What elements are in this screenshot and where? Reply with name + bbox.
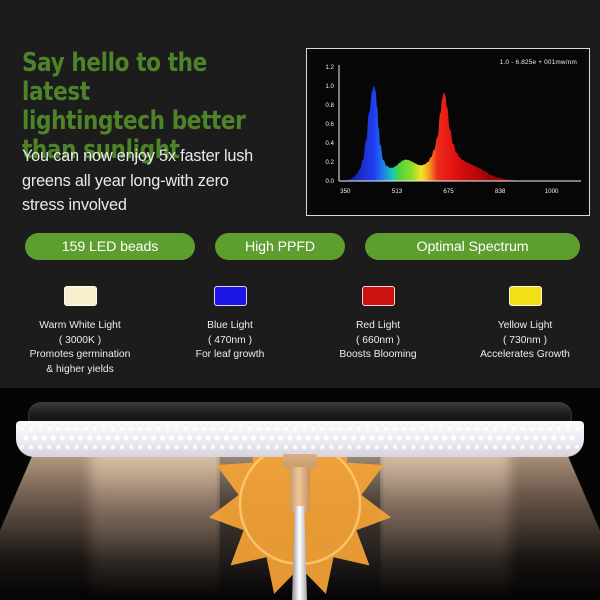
led-bead xyxy=(165,427,169,431)
led-bead xyxy=(202,445,206,449)
led-bead xyxy=(296,435,301,440)
subline-line-2: greens all year long-with zero xyxy=(22,169,302,194)
spec0-line-3: Promotes germination xyxy=(5,348,155,363)
led-bead xyxy=(129,445,133,449)
led-bead xyxy=(29,427,33,431)
led-bead xyxy=(306,435,311,440)
led-bead xyxy=(111,445,115,449)
led-bead xyxy=(338,445,342,449)
led-bead xyxy=(165,445,169,449)
led-bead xyxy=(511,445,515,449)
spec1-line-3: For leaf growth xyxy=(155,348,305,363)
led-bead xyxy=(311,445,315,449)
led-bead xyxy=(347,427,351,431)
hero-subtitle: You can now enjoy 5x faster lush greens … xyxy=(22,144,302,218)
led-bead xyxy=(320,445,324,449)
led-bead xyxy=(20,445,24,449)
led-bead xyxy=(529,445,533,449)
product-photo xyxy=(0,388,600,600)
y-tick-label: 0.4 xyxy=(325,140,334,147)
led-bead xyxy=(357,445,361,449)
led-bead xyxy=(23,435,28,440)
led-bead xyxy=(38,445,42,449)
led-bead xyxy=(38,427,42,431)
spec1-line-1: Blue Light xyxy=(155,319,305,334)
spec3-line-2: ( 730nm ) xyxy=(450,334,600,349)
headline-line-1: Say hello to the latest xyxy=(22,49,281,107)
led-bead xyxy=(260,435,265,440)
led-bead xyxy=(560,435,565,440)
led-bead xyxy=(169,435,174,440)
led-bead xyxy=(114,435,119,440)
spec1-line-2: ( 470nm ) xyxy=(155,334,305,349)
y-tick-label: 0.8 xyxy=(325,102,334,109)
led-bead xyxy=(315,435,320,440)
led-bead xyxy=(302,445,306,449)
led-bead xyxy=(202,427,206,431)
led-bead xyxy=(475,445,479,449)
led-bead xyxy=(384,445,388,449)
led-bead xyxy=(266,427,270,431)
badge-led-beads[interactable]: 159 LED beads xyxy=(25,233,195,260)
led-bead xyxy=(47,427,51,431)
spectrum-chart: 1.0 - 6.825e + 001mw/nm 0.00.20.40.60.81… xyxy=(306,48,590,216)
led-bead xyxy=(384,427,388,431)
spec-red: Red Light ( 660nm ) Boosts Blooming xyxy=(303,278,453,363)
spec-warm-white-text: Warm White Light ( 3000K ) Promotes germ… xyxy=(5,319,155,377)
warm-white-swatch xyxy=(64,286,97,306)
led-bead xyxy=(493,427,497,431)
led-bead xyxy=(411,445,415,449)
badge-optimal-spectrum[interactable]: Optimal Spectrum xyxy=(365,233,580,260)
led-bead xyxy=(497,435,502,440)
led-bead xyxy=(87,435,92,440)
led-bead xyxy=(69,435,74,440)
led-bead xyxy=(347,445,351,449)
led-bead xyxy=(539,427,543,431)
led-bead xyxy=(84,445,88,449)
led-bead xyxy=(196,435,201,440)
spec-yellow: Yellow Light ( 730nm ) Accelerates Growt… xyxy=(450,278,600,363)
led-bead xyxy=(29,445,33,449)
led-spec-list: Warm White Light ( 3000K ) Promotes germ… xyxy=(0,278,600,388)
led-bead xyxy=(475,427,479,431)
led-bead xyxy=(442,435,447,440)
led-bead xyxy=(175,445,179,449)
led-bead xyxy=(247,445,251,449)
led-bead xyxy=(366,445,370,449)
led-bead xyxy=(333,435,338,440)
led-bead xyxy=(302,427,306,431)
led-bead xyxy=(311,427,315,431)
led-bead xyxy=(466,445,470,449)
led-bead xyxy=(233,435,238,440)
led-bead xyxy=(397,435,402,440)
led-bead xyxy=(111,427,115,431)
led-panel xyxy=(16,421,584,457)
spec0-line-4: & higher yields xyxy=(5,363,155,378)
led-bead xyxy=(269,435,274,440)
led-bead xyxy=(466,427,470,431)
spec2-line-1: Red Light xyxy=(303,319,453,334)
led-bead xyxy=(420,445,424,449)
spec-red-text: Red Light ( 660nm ) Boosts Blooming xyxy=(303,319,453,363)
led-bead xyxy=(256,445,260,449)
spec0-line-2: ( 3000K ) xyxy=(5,334,155,349)
led-bead xyxy=(56,427,60,431)
led-bead xyxy=(205,435,210,440)
led-bead xyxy=(393,427,397,431)
spec2-line-3: Boosts Blooming xyxy=(303,348,453,363)
led-bead xyxy=(533,435,538,440)
led-bead xyxy=(184,427,188,431)
led-bead xyxy=(393,445,397,449)
led-bead xyxy=(275,427,279,431)
led-bead xyxy=(193,427,197,431)
led-bead xyxy=(402,445,406,449)
led-bead xyxy=(502,445,506,449)
led-bead xyxy=(366,427,370,431)
led-bead xyxy=(220,427,224,431)
headline-line-2: lightingtech better xyxy=(22,107,281,136)
led-bead xyxy=(529,427,533,431)
led-bead xyxy=(93,427,97,431)
led-bead xyxy=(220,445,224,449)
led-bead xyxy=(448,427,452,431)
led-bead xyxy=(375,445,379,449)
led-bead xyxy=(51,435,56,440)
led-bead xyxy=(151,435,156,440)
led-bead xyxy=(242,435,247,440)
led-bead xyxy=(457,427,461,431)
led-bead xyxy=(215,435,220,440)
led-bead xyxy=(551,435,556,440)
led-bead xyxy=(548,445,552,449)
y-tick-label: 1.2 xyxy=(325,64,334,71)
lamp-mount xyxy=(283,454,317,468)
led-bead xyxy=(438,445,442,449)
feature-badges: 159 LED beads High PPFD Optimal Spectrum xyxy=(0,233,600,263)
led-bead xyxy=(138,427,142,431)
spec3-line-3: Accelerates Growth xyxy=(450,348,600,363)
x-tick-label: 513 xyxy=(392,188,403,195)
promo-graphic: Say hello to the latest lightingtech bet… xyxy=(0,0,600,600)
spec2-line-2: ( 660nm ) xyxy=(303,334,453,349)
led-bead xyxy=(266,445,270,449)
led-bead xyxy=(284,427,288,431)
led-bead xyxy=(411,427,415,431)
led-bead xyxy=(324,435,329,440)
led-bead xyxy=(369,435,374,440)
led-bead xyxy=(33,435,38,440)
subline-line-3: stress involved xyxy=(22,193,302,218)
led-bead xyxy=(47,445,51,449)
led-bead xyxy=(502,427,506,431)
y-tick-label: 0.6 xyxy=(325,121,334,128)
led-bead xyxy=(415,435,420,440)
x-tick-label: 675 xyxy=(443,188,454,195)
led-bead xyxy=(357,427,361,431)
y-tick-label: 1.0 xyxy=(325,83,334,90)
spectrum-curve xyxy=(341,86,577,181)
led-bead xyxy=(460,435,465,440)
spec0-line-1: Warm White Light xyxy=(5,319,155,334)
blue-swatch xyxy=(214,286,247,306)
hero-section: Say hello to the latest lightingtech bet… xyxy=(0,0,600,225)
lamp-neck xyxy=(290,467,310,511)
led-bead xyxy=(378,435,383,440)
x-tick-label: 350 xyxy=(340,188,351,195)
led-bead xyxy=(433,435,438,440)
led-bead xyxy=(548,427,552,431)
red-swatch xyxy=(362,286,395,306)
led-bead xyxy=(229,445,233,449)
led-bead xyxy=(360,435,365,440)
y-tick-label: 0.2 xyxy=(325,159,334,166)
led-bead xyxy=(120,427,124,431)
led-bead xyxy=(387,435,392,440)
yellow-swatch xyxy=(509,286,542,306)
x-tick-label: 838 xyxy=(495,188,506,195)
led-bead xyxy=(493,445,497,449)
led-bead xyxy=(147,445,151,449)
spec-blue-text: Blue Light ( 470nm ) For leaf growth xyxy=(155,319,305,363)
led-bead xyxy=(74,427,78,431)
led-bead xyxy=(229,427,233,431)
led-bead xyxy=(478,435,483,440)
led-bead xyxy=(451,435,456,440)
led-bead xyxy=(539,445,543,449)
led-bead xyxy=(74,445,78,449)
led-bead xyxy=(156,427,160,431)
badge-high-ppfd[interactable]: High PPFD xyxy=(215,233,345,260)
led-bead xyxy=(238,427,242,431)
chart-canvas: 0.00.20.40.60.81.01.23505136758381000 xyxy=(311,53,585,211)
led-bead xyxy=(65,427,69,431)
spec-yellow-text: Yellow Light ( 730nm ) Accelerates Growt… xyxy=(450,319,600,363)
led-bead xyxy=(575,445,579,449)
led-bead xyxy=(156,445,160,449)
led-bead xyxy=(520,445,524,449)
spec3-line-1: Yellow Light xyxy=(450,319,600,334)
led-bead xyxy=(93,445,97,449)
led-bead xyxy=(515,435,520,440)
led-bead xyxy=(65,445,69,449)
led-bead xyxy=(566,445,570,449)
led-bead xyxy=(520,427,524,431)
led-bead xyxy=(187,435,192,440)
led-bead xyxy=(557,445,561,449)
led-bead xyxy=(193,445,197,449)
chart-plot-area: 1.0 - 6.825e + 001mw/nm 0.00.20.40.60.81… xyxy=(311,53,585,211)
led-bead xyxy=(96,435,101,440)
led-bead xyxy=(424,435,429,440)
led-bead xyxy=(420,427,424,431)
led-bead xyxy=(575,427,579,431)
led-bead xyxy=(184,445,188,449)
led-bead xyxy=(569,435,574,440)
led-bead xyxy=(338,427,342,431)
led-bead xyxy=(278,435,283,440)
led-bead xyxy=(102,427,106,431)
led-bead xyxy=(120,445,124,449)
led-bead xyxy=(275,445,279,449)
led-bead xyxy=(429,445,433,449)
led-bead xyxy=(224,435,229,440)
led-bead xyxy=(506,435,511,440)
led-bead xyxy=(60,435,65,440)
led-bead xyxy=(488,435,493,440)
led-bead xyxy=(211,445,215,449)
led-bead xyxy=(178,435,183,440)
led-bead xyxy=(402,427,406,431)
led-bead xyxy=(129,427,133,431)
led-bead xyxy=(175,427,179,431)
led-bead xyxy=(375,427,379,431)
led-bead-array xyxy=(16,421,584,457)
led-bead xyxy=(329,427,333,431)
led-bead xyxy=(84,427,88,431)
led-bead xyxy=(105,435,110,440)
x-tick-label: 1000 xyxy=(545,188,559,195)
led-bead xyxy=(102,445,106,449)
led-bead xyxy=(457,445,461,449)
led-bead xyxy=(133,435,138,440)
led-bead xyxy=(284,445,288,449)
led-bead xyxy=(351,435,356,440)
led-bead xyxy=(511,427,515,431)
led-bead xyxy=(448,445,452,449)
led-bead xyxy=(406,435,411,440)
led-bead xyxy=(211,427,215,431)
led-bead xyxy=(78,435,83,440)
led-bead xyxy=(566,427,570,431)
spec-warm-white: Warm White Light ( 3000K ) Promotes germ… xyxy=(5,278,155,377)
led-bead xyxy=(238,445,242,449)
led-bead xyxy=(342,435,347,440)
led-bead xyxy=(138,445,142,449)
led-bead xyxy=(56,445,60,449)
led-bead xyxy=(469,435,474,440)
led-bead xyxy=(484,427,488,431)
led-bead xyxy=(429,427,433,431)
led-bead xyxy=(160,435,165,440)
led-bead xyxy=(524,435,529,440)
led-bead xyxy=(20,427,24,431)
led-bead xyxy=(329,445,333,449)
led-bead xyxy=(42,435,47,440)
led-bead xyxy=(320,427,324,431)
led-bead xyxy=(147,427,151,431)
led-bead xyxy=(142,435,147,440)
led-bead xyxy=(287,435,292,440)
y-tick-label: 0.0 xyxy=(325,178,334,185)
led-bead xyxy=(484,445,488,449)
led-bead xyxy=(247,427,251,431)
led-bead xyxy=(124,435,129,440)
led-bead xyxy=(256,427,260,431)
led-bead xyxy=(293,445,297,449)
spec-blue: Blue Light ( 470nm ) For leaf growth xyxy=(155,278,305,363)
led-bead xyxy=(438,427,442,431)
subline-line-1: You can now enjoy 5x faster lush xyxy=(22,144,302,169)
led-bead xyxy=(251,435,256,440)
led-bead xyxy=(293,427,297,431)
led-bead xyxy=(557,427,561,431)
led-bead xyxy=(542,435,547,440)
